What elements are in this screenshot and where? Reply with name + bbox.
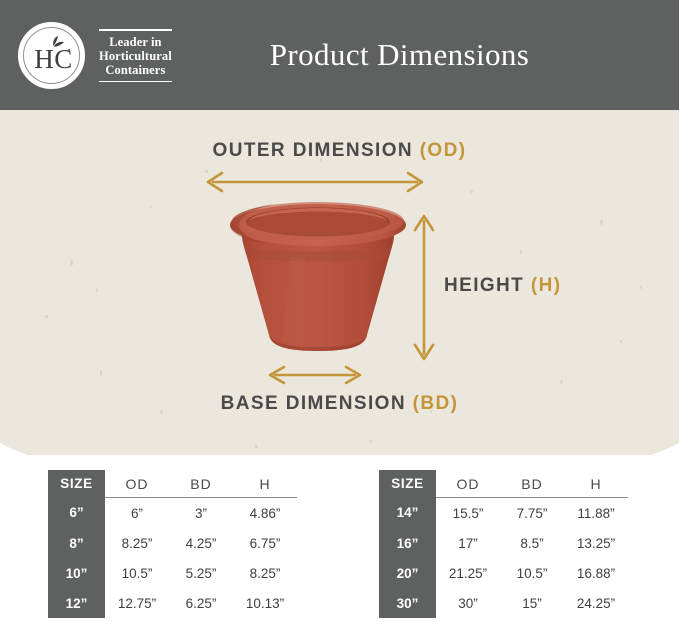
cell-h: 4.86” — [233, 498, 297, 529]
base-dimension-text: BASE DIMENSION — [221, 393, 406, 414]
dimension-tables: SIZE OD BD H 6” 6” 3” 4.86” 8” 8.25” 4.2… — [0, 470, 679, 636]
base-dimension-arrow-icon — [262, 363, 368, 387]
table-row: 30” 30” 15” 24.25” — [379, 588, 628, 618]
cell-od: 17” — [436, 528, 500, 558]
cell-size: 20” — [379, 558, 436, 588]
column-header-size: SIZE — [48, 470, 105, 498]
dimension-table-small: SIZE OD BD H 6” 6” 3” 4.86” 8” 8.25” 4.2… — [48, 470, 297, 618]
svg-text:HC: HC — [34, 44, 73, 74]
column-header-od: OD — [436, 470, 500, 498]
table-row: 16” 17” 8.5” 13.25” — [379, 528, 628, 558]
cell-od: 12.75” — [105, 588, 169, 618]
cell-size: 16” — [379, 528, 436, 558]
tagline-line-3: Containers — [105, 63, 165, 77]
diagram-panel: OUTER DIMENSION (OD) HEIGHT (H) BASE D — [0, 110, 679, 455]
dimension-table-large: SIZE OD BD H 14” 15.5” 7.75” 11.88” 16” … — [379, 470, 628, 618]
cell-h: 13.25” — [564, 528, 628, 558]
outer-dimension-abbr: (OD) — [420, 140, 467, 161]
cell-h: 6.75” — [233, 528, 297, 558]
cell-h: 11.88” — [564, 498, 628, 529]
cell-size: 12” — [48, 588, 105, 618]
base-dimension-label: BASE DIMENSION (BD) — [0, 393, 679, 415]
column-header-od: OD — [105, 470, 169, 498]
cell-od: 8.25” — [105, 528, 169, 558]
column-header-h: H — [233, 470, 297, 498]
table-header-row: SIZE OD BD H — [48, 470, 297, 498]
column-header-bd: BD — [500, 470, 564, 498]
hc-logo-icon: HC — [18, 22, 85, 89]
cell-od: 10.5” — [105, 558, 169, 588]
cell-size: 6” — [48, 498, 105, 529]
tagline-line-2: Horticultural — [99, 49, 172, 63]
tagline-rule-bottom — [99, 81, 172, 83]
cell-h: 24.25” — [564, 588, 628, 618]
cell-size: 10” — [48, 558, 105, 588]
height-label: HEIGHT (H) — [444, 275, 561, 297]
cell-size: 30” — [379, 588, 436, 618]
tagline-rule-top — [99, 29, 172, 31]
product-dimensions-infographic: HC Leader in Horticultural Containers Pr… — [0, 0, 679, 636]
cell-bd: 7.75” — [500, 498, 564, 529]
cell-size: 8” — [48, 528, 105, 558]
cell-od: 15.5” — [436, 498, 500, 529]
height-text: HEIGHT — [444, 275, 524, 296]
column-header-h: H — [564, 470, 628, 498]
tagline-line-1: Leader in — [109, 35, 161, 49]
outer-dimension-text: OUTER DIMENSION — [213, 140, 413, 161]
outer-dimension-label: OUTER DIMENSION (OD) — [0, 140, 679, 162]
table-header-row: SIZE OD BD H — [379, 470, 628, 498]
table-row: 20” 21.25” 10.5” 16.88” — [379, 558, 628, 588]
height-arrow-icon — [412, 210, 436, 365]
table-row: 14” 15.5” 7.75” 11.88” — [379, 498, 628, 529]
cell-h: 8.25” — [233, 558, 297, 588]
header-bar: HC Leader in Horticultural Containers Pr… — [0, 0, 679, 110]
cell-bd: 6.25” — [169, 588, 233, 618]
cell-bd: 4.25” — [169, 528, 233, 558]
cell-od: 30” — [436, 588, 500, 618]
cell-od: 21.25” — [436, 558, 500, 588]
cell-h: 10.13” — [233, 588, 297, 618]
hc-monogram-icon: HC — [20, 24, 87, 91]
cell-h: 16.88” — [564, 558, 628, 588]
cell-size: 14” — [379, 498, 436, 529]
height-abbr: (H) — [531, 275, 562, 296]
column-header-size: SIZE — [379, 470, 436, 498]
cell-bd: 3” — [169, 498, 233, 529]
table-row: 8” 8.25” 4.25” 6.75” — [48, 528, 297, 558]
table-row: 12” 12.75” 6.25” 10.13” — [48, 588, 297, 618]
planter-pot-illustration — [225, 195, 411, 363]
cell-bd: 10.5” — [500, 558, 564, 588]
table-row: 10” 10.5” 5.25” 8.25” — [48, 558, 297, 588]
brand-tagline: Leader in Horticultural Containers — [97, 26, 174, 85]
cell-bd: 5.25” — [169, 558, 233, 588]
column-header-bd: BD — [169, 470, 233, 498]
base-dimension-abbr: (BD) — [413, 393, 459, 414]
brand-logo: HC Leader in Horticultural Containers — [18, 22, 174, 89]
cell-bd: 8.5” — [500, 528, 564, 558]
outer-dimension-arrow-icon — [200, 170, 430, 194]
cell-bd: 15” — [500, 588, 564, 618]
cell-od: 6” — [105, 498, 169, 529]
table-row: 6” 6” 3” 4.86” — [48, 498, 297, 529]
